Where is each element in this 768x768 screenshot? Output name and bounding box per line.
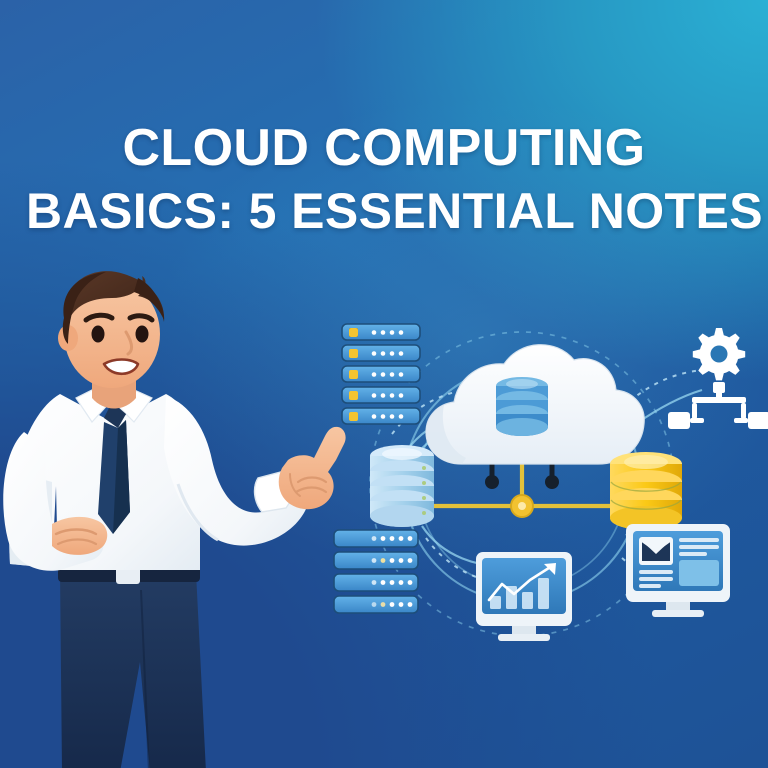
trousers — [60, 572, 206, 768]
server-rack-top — [342, 324, 420, 424]
businessman-illustration — [0, 272, 352, 768]
title-line-2: BASICS: 5 ESSENTIAL NOTES — [26, 186, 742, 236]
monitor-dashboard — [626, 524, 730, 617]
cloud-infrastructure-diagram — [330, 312, 768, 652]
head — [58, 271, 164, 388]
gear-network-icon — [668, 328, 768, 429]
banner-canvas: CLOUD COMPUTING BASICS: 5 ESSENTIAL NOTE… — [0, 0, 768, 768]
monitor-analytics — [476, 552, 572, 641]
title-line-1: CLOUD COMPUTING — [26, 122, 742, 174]
database-left — [370, 445, 434, 527]
database-right — [610, 452, 682, 530]
page-title: CLOUD COMPUTING BASICS: 5 ESSENTIAL NOTE… — [0, 122, 768, 236]
server-rack-bottom — [334, 530, 418, 613]
gear-icon — [693, 328, 745, 380]
cloud-inner-database — [496, 377, 548, 436]
network-diagram-icon — [668, 382, 768, 429]
